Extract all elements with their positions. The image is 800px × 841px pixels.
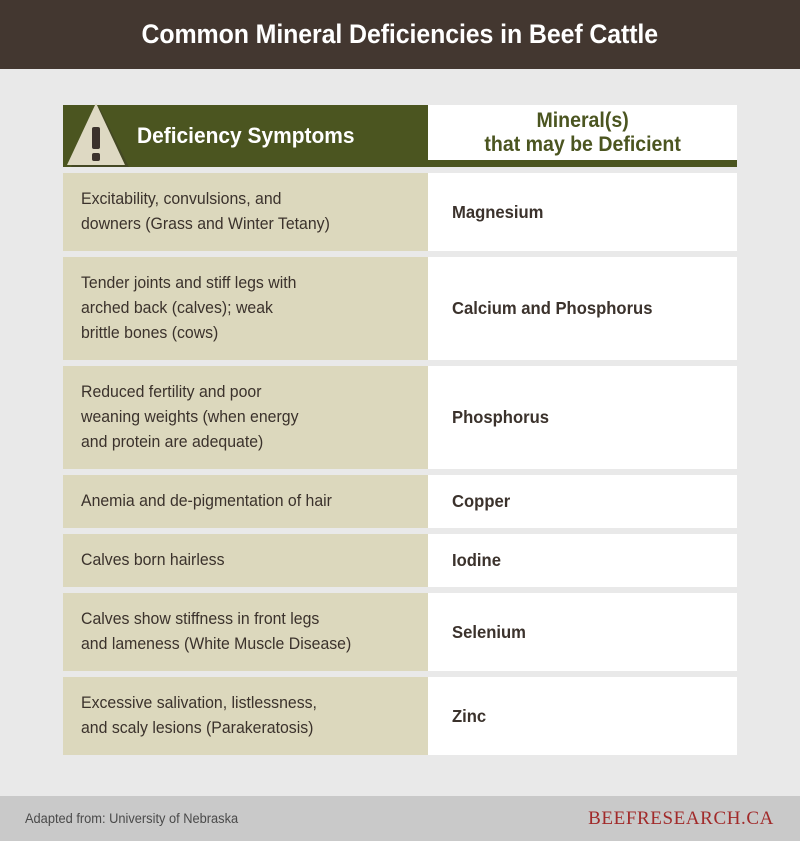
symptom-cell: Excessive salivation, listlessness, and … [63,677,428,755]
mineral-cell: Phosphorus [428,366,737,469]
mineral-cell: Selenium [428,593,737,671]
mineral-label: Calcium and Phosphorus [452,298,652,319]
symptom-cell: Reduced fertility and poor weaning weigh… [63,366,428,469]
symptom-line: downers (Grass and Winter Tetany) [81,212,330,237]
symptom-line: Tender joints and stiff legs with [81,271,296,296]
symptom-line: Excessive salivation, listlessness, [81,691,317,716]
symptom-line: Reduced fertility and poor [81,380,299,405]
symptom-line: and lameness (White Muscle Disease) [81,632,351,657]
mineral-label: Phosphorus [452,407,549,428]
mineral-label: Zinc [452,706,486,727]
page-title: Common Mineral Deficiencies in Beef Catt… [142,19,659,50]
footer-bar: Adapted from: University of Nebraska BEE… [0,796,800,841]
mineral-label: Iodine [452,550,501,571]
table-header-minerals-line2: that may be Deficient [484,133,680,157]
table-header-symptoms: Deficiency Symptoms [63,105,428,167]
title-bar: Common Mineral Deficiencies in Beef Catt… [0,0,800,69]
table-row: Excessive salivation, listlessness, and … [63,677,737,755]
symptom-line: Anemia and de-pigmentation of hair [81,489,332,514]
warning-triangle-icon [65,99,131,173]
symptom-line: and protein are adequate) [81,430,299,455]
mineral-cell: Iodine [428,534,737,587]
mineral-cell: Calcium and Phosphorus [428,257,737,360]
mineral-label: Selenium [452,622,526,643]
table-header-minerals-line1: Mineral(s) [536,109,628,133]
table-row: Calves show stiffness in front legs and … [63,593,737,671]
table-row: Calves born hairless Iodine [63,534,737,587]
table-row: Anemia and de-pigmentation of hair Coppe… [63,475,737,528]
mineral-label: Copper [452,491,510,512]
source-credit: Adapted from: University of Nebraska [25,811,238,826]
symptom-cell: Tender joints and stiff legs with arched… [63,257,428,360]
deficiency-table: Deficiency Symptoms Mineral(s) that may … [63,105,737,761]
table-row: Reduced fertility and poor weaning weigh… [63,366,737,469]
symptom-line: Calves show stiffness in front legs [81,607,351,632]
symptom-line: brittle bones (cows) [81,321,296,346]
symptom-cell: Anemia and de-pigmentation of hair [63,475,428,528]
table-header-minerals: Mineral(s) that may be Deficient [428,105,737,167]
mineral-label: Magnesium [452,202,543,223]
symptom-cell: Calves born hairless [63,534,428,587]
mineral-cell: Magnesium [428,173,737,251]
symptom-cell: Calves show stiffness in front legs and … [63,593,428,671]
table-row: Tender joints and stiff legs with arched… [63,257,737,360]
mineral-cell: Copper [428,475,737,528]
symptom-line: Excitability, convulsions, and [81,187,330,212]
symptom-cell: Excitability, convulsions, and downers (… [63,173,428,251]
symptom-line: arched back (calves); weak [81,296,296,321]
table-header-symptoms-label: Deficiency Symptoms [137,123,354,149]
table-row: Excitability, convulsions, and downers (… [63,173,737,251]
mineral-cell: Zinc [428,677,737,755]
table-header-row: Deficiency Symptoms Mineral(s) that may … [63,105,737,167]
beefresearch-logo[interactable]: BEEFRESEARCH.CA [588,808,774,830]
symptom-line: Calves born hairless [81,548,225,573]
symptom-line: weaning weights (when energy [81,405,299,430]
symptom-line: and scaly lesions (Parakeratosis) [81,716,317,741]
